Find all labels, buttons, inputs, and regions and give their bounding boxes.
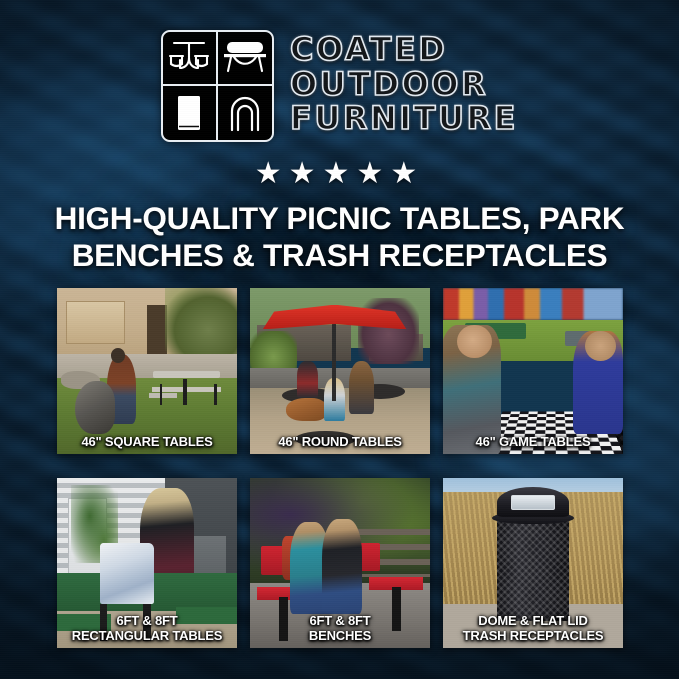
picnic-table-icon xyxy=(163,32,218,86)
trash-receptacle-icon xyxy=(163,86,218,140)
tile-caption: 46" SQUARE TABLES xyxy=(61,435,233,449)
logo-icon-grid xyxy=(161,30,274,142)
tile-caption-line-2: TRASH RECEPTACLES xyxy=(447,629,619,643)
headline-line-1: HIGH-QUALITY PICNIC TABLES, PARK xyxy=(55,200,625,236)
product-category-grid: 46" SQUARE TABLES 46" ROUND TABLES xyxy=(57,288,623,648)
tile-caption: 6FT & 8FT BENCHES xyxy=(254,614,426,643)
tile-caption: 46" ROUND TABLES xyxy=(254,435,426,449)
square-tables-photo xyxy=(57,288,237,454)
headline-line-2: BENCHES & TRASH RECEPTACLES xyxy=(30,237,649,274)
category-tile-square-tables[interactable]: 46" SQUARE TABLES xyxy=(57,288,237,454)
tile-caption: 46" GAME TABLES xyxy=(447,435,619,449)
brand-word-outdoor: OUTDOOR xyxy=(290,67,518,102)
bench-table-icon xyxy=(218,32,273,86)
tile-caption-line-2: RECTANGULAR TABLES xyxy=(61,629,233,643)
tile-caption-line-1: 46" GAME TABLES xyxy=(476,434,591,449)
tile-caption-line-2: BENCHES xyxy=(254,629,426,643)
tile-caption-line-1: 46" ROUND TABLES xyxy=(278,434,401,449)
category-tile-benches[interactable]: 6FT & 8FT BENCHES xyxy=(250,478,430,648)
tile-caption: 6FT & 8FT RECTANGULAR TABLES xyxy=(61,614,233,643)
tile-caption-line-1: 6FT & 8FT xyxy=(309,613,370,628)
brand-word-furniture: FURNITURE xyxy=(290,101,518,136)
tile-caption-line-1: DOME & FLAT LID xyxy=(478,613,587,628)
category-tile-trash-receptacles[interactable]: DOME & FLAT LID TRASH RECEPTACLES xyxy=(443,478,623,648)
brand-wordmark: COATED OUTDOOR FURNITURE xyxy=(290,30,518,136)
brand-logo: COATED OUTDOOR FURNITURE xyxy=(0,30,679,142)
star-rating: ★★★★★ xyxy=(0,159,679,189)
promotional-banner: COATED OUTDOOR FURNITURE ★★★★★ HIGH-QUAL… xyxy=(0,0,679,679)
tile-caption-line-1: 46" SQUARE TABLES xyxy=(81,434,212,449)
brand-word-coated: COATED xyxy=(290,32,518,67)
tile-caption: DOME & FLAT LID TRASH RECEPTACLES xyxy=(447,614,619,643)
category-tile-rectangular-tables[interactable]: 6FT & 8FT RECTANGULAR TABLES xyxy=(57,478,237,648)
category-tile-round-tables[interactable]: 46" ROUND TABLES xyxy=(250,288,430,454)
bike-rack-icon xyxy=(218,86,273,140)
page-title: HIGH-QUALITY PICNIC TABLES, PARK BENCHES… xyxy=(30,200,649,273)
round-tables-photo xyxy=(250,288,430,454)
game-tables-photo xyxy=(443,288,623,454)
tile-caption-line-1: 6FT & 8FT xyxy=(116,613,177,628)
category-tile-game-tables[interactable]: 46" GAME TABLES xyxy=(443,288,623,454)
